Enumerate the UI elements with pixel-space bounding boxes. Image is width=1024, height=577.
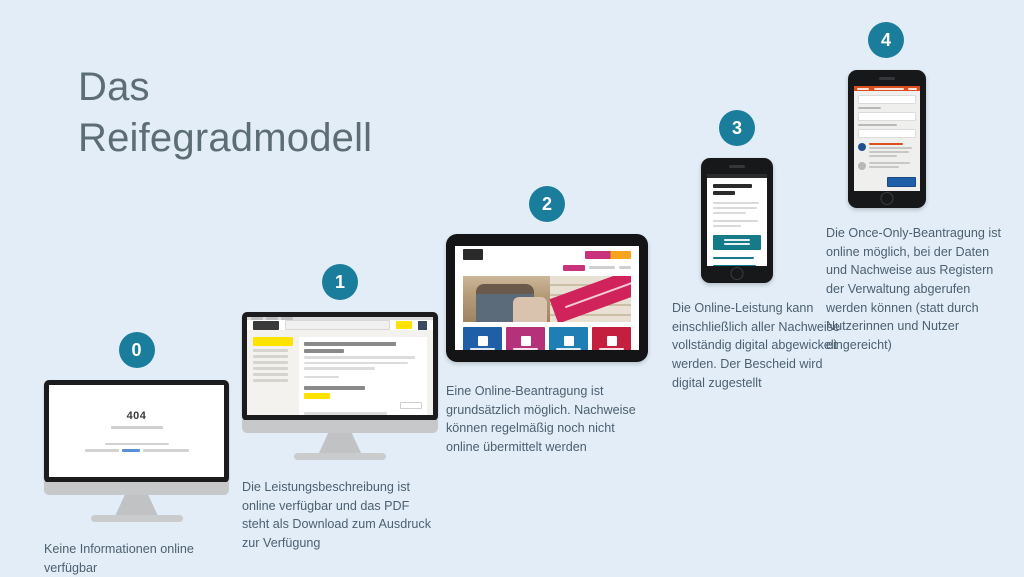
portal-nav <box>455 263 639 272</box>
step-1-badge: 1 <box>322 264 358 300</box>
submit-button[interactable] <box>887 177 916 187</box>
body-text <box>713 202 759 204</box>
field-label <box>858 124 897 126</box>
content-heading <box>304 342 396 346</box>
info-icon <box>858 143 866 151</box>
sidebar-item[interactable] <box>253 361 288 364</box>
phone-status-bar <box>707 174 767 178</box>
error-link-row <box>85 449 189 452</box>
monitor-chin <box>242 420 438 433</box>
notice-line <box>869 151 909 153</box>
error-body-line <box>105 443 169 446</box>
government-site-screen <box>247 317 433 415</box>
site-body <box>247 330 433 415</box>
site-header <box>247 320 433 330</box>
content-text <box>304 376 339 379</box>
error-code: 404 <box>127 410 147 422</box>
start-application-button[interactable] <box>713 235 761 250</box>
government-service-page <box>247 317 433 415</box>
notice-text <box>869 162 916 168</box>
tile-label <box>470 348 495 350</box>
accordion-link[interactable] <box>713 257 754 259</box>
step-1-desktop-monitor <box>242 312 438 460</box>
step-3: 3 <box>672 110 842 392</box>
page-heading-line-1 <box>713 184 752 188</box>
home-button[interactable] <box>881 192 894 205</box>
menu-icon[interactable] <box>908 88 917 90</box>
sidebar-item[interactable] <box>253 355 288 358</box>
page-title-line-1: Das <box>78 65 150 109</box>
step-0-badge: 0 <box>119 332 155 368</box>
monitor-neck <box>319 433 361 453</box>
body-text <box>713 220 758 222</box>
bafoeg-application-page <box>707 174 767 266</box>
content-text <box>304 356 415 359</box>
tile-label <box>556 348 581 350</box>
form-body <box>854 91 920 191</box>
tile-support[interactable] <box>506 327 545 350</box>
monitor-neck <box>116 495 158 515</box>
sidebar-item[interactable] <box>253 379 288 382</box>
button-label-line <box>724 243 750 245</box>
secondary-info-icon <box>858 162 866 170</box>
body-text <box>713 225 741 227</box>
bafoeg-screen <box>707 174 767 266</box>
portal-header <box>455 246 639 263</box>
site-logo <box>253 321 279 330</box>
page-heading-line-2 <box>713 191 735 195</box>
notice-line <box>869 166 899 168</box>
tile-label <box>599 348 624 350</box>
main-content <box>299 337 427 415</box>
link-prefix <box>85 449 119 452</box>
hero-child <box>513 297 547 322</box>
notice-line-highlight <box>869 143 903 145</box>
content-text <box>304 367 375 370</box>
step-4-phone <box>848 70 926 208</box>
content-text <box>304 412 387 415</box>
form-field[interactable] <box>858 129 916 138</box>
service-tiles <box>463 327 631 350</box>
step-3-badge: 3 <box>719 110 755 146</box>
form-field[interactable] <box>858 95 916 104</box>
sidebar-item-active[interactable] <box>253 337 293 346</box>
app-title <box>874 88 904 90</box>
sidebar-item[interactable] <box>253 349 288 352</box>
page-title-line-2: Reifegradmodell <box>78 113 508 164</box>
step-2-tablet <box>446 234 648 362</box>
monitor-bezel <box>242 312 438 421</box>
nav-item[interactable] <box>589 266 615 269</box>
info-notice <box>858 143 916 157</box>
tile-form[interactable] <box>463 327 502 350</box>
step-4-caption: Die Once-Only-Beantragung ist online mög… <box>826 224 1006 354</box>
notice-line <box>869 147 912 149</box>
portal-brand-logo <box>585 251 631 259</box>
once-only-screen <box>854 86 920 191</box>
link-suffix <box>143 449 189 452</box>
step-0-caption: Keine Informationen online verfügbar <box>44 540 229 577</box>
notice-line <box>869 155 897 157</box>
content-text <box>304 362 408 365</box>
sidebar-item[interactable] <box>253 373 288 376</box>
step-3-caption: Die Online-Leistung kann einschließlich … <box>672 299 842 392</box>
monitor-chin <box>44 482 229 495</box>
field-label <box>858 107 881 109</box>
step-3-phone <box>701 158 773 283</box>
back-icon[interactable] <box>857 88 869 90</box>
step-1-caption: Die Leistungsbeschreibung ist online ver… <box>242 478 438 553</box>
nav-item-active[interactable] <box>563 265 585 271</box>
hero-photo <box>463 276 631 322</box>
menu-icon[interactable] <box>418 321 427 330</box>
sidebar-item[interactable] <box>253 367 288 370</box>
tile-document[interactable] <box>549 327 588 350</box>
button-label-line <box>724 239 750 241</box>
monitor-bezel: 404 <box>44 380 229 483</box>
download-section-heading <box>304 386 365 390</box>
body-text <box>713 207 757 209</box>
infographic-canvas: Das Reifegradmodell 0 404 <box>0 0 1024 576</box>
home-button[interactable] <box>731 267 744 280</box>
step-0-desktop-monitor: 404 <box>44 380 229 522</box>
tile-label <box>513 348 538 350</box>
content-subheading <box>304 349 344 353</box>
step-0: 0 404 <box>44 332 229 577</box>
secondary-button[interactable] <box>400 402 422 409</box>
form-field[interactable] <box>858 112 916 121</box>
nav-item[interactable] <box>619 266 631 269</box>
federal-eagle-logo <box>463 249 483 260</box>
once-only-registry-form <box>854 86 920 191</box>
document-icon <box>564 336 574 346</box>
step-1: 1 <box>242 264 438 553</box>
error-404-screen: 404 <box>49 385 224 477</box>
hand-icon <box>521 336 531 346</box>
body-text <box>713 212 746 214</box>
accordion-link[interactable] <box>713 265 756 266</box>
search-button[interactable] <box>396 321 412 329</box>
error-link[interactable] <box>122 449 140 452</box>
family-icon <box>607 336 617 346</box>
step-4: 4 <box>826 22 1006 354</box>
tile-family[interactable] <box>592 327 631 350</box>
monitor-base <box>294 453 386 460</box>
secondary-notice <box>858 162 916 170</box>
error-subheading <box>111 426 163 429</box>
step-2: 2 <box>446 186 648 457</box>
page-title: Das Reifegradmodell <box>78 62 508 164</box>
form-icon <box>478 336 488 346</box>
step-2-badge: 2 <box>529 186 565 222</box>
step-4-badge: 4 <box>868 22 904 58</box>
sidebar-nav <box>253 337 293 415</box>
step-2-caption: Eine Online-Beantragung ist grundsätzlic… <box>446 382 648 457</box>
family-portal-screen <box>455 246 639 350</box>
download-pdf-button[interactable] <box>304 393 330 399</box>
notice-line <box>869 162 910 164</box>
notice-text <box>869 143 916 157</box>
search-input[interactable] <box>285 320 390 330</box>
monitor-base <box>91 515 183 522</box>
error-404-page: 404 <box>49 385 224 477</box>
